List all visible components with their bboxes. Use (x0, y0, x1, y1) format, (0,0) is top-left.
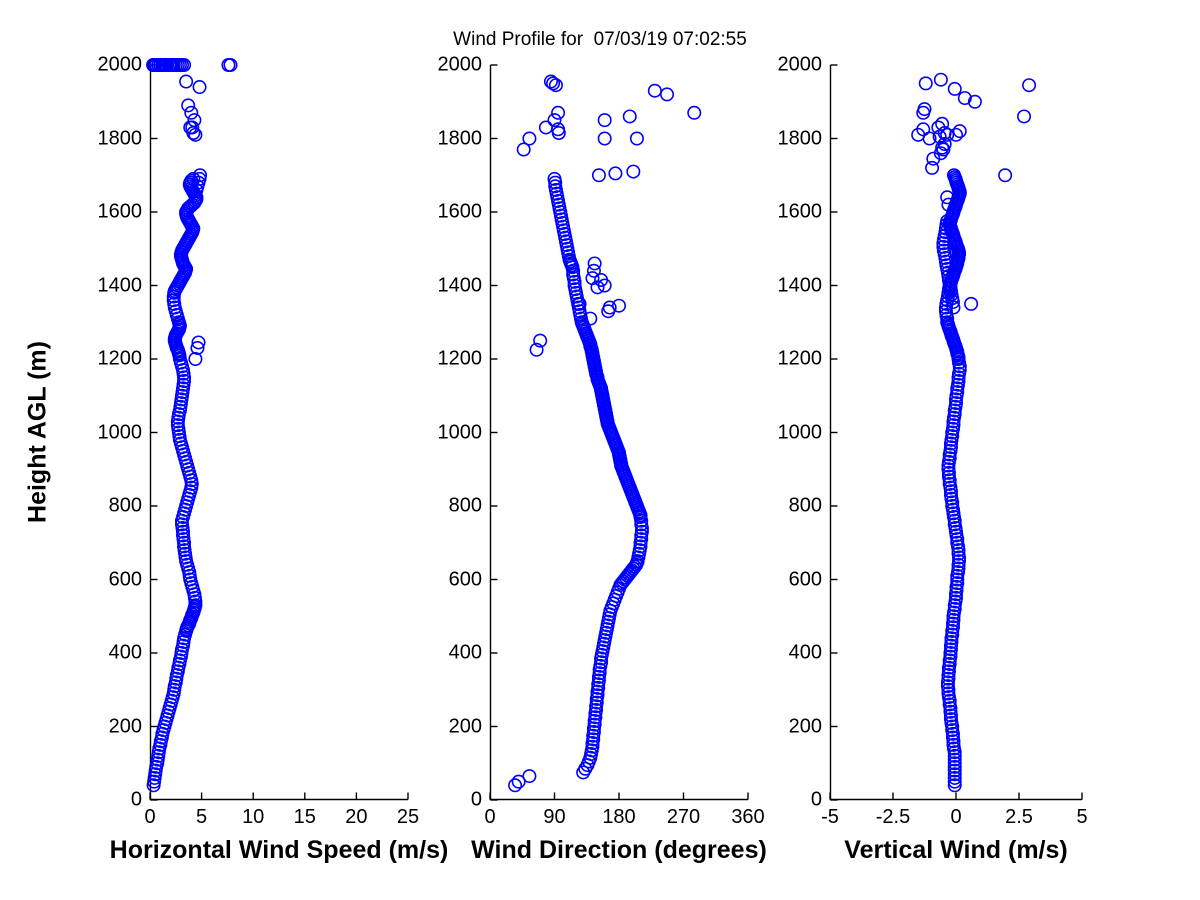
panel-wind-direction: Wind Direction (degrees) 020040060080010… (490, 65, 748, 800)
data-point (613, 300, 625, 312)
page-title: Wind Profile for 07/03/19 07:02:55 (0, 29, 1200, 51)
data-point (593, 169, 605, 181)
data-point (949, 83, 961, 95)
y-tick-label: 0 (131, 789, 142, 812)
y-tick-label: 2000 (98, 54, 143, 77)
y-tick-label: 1800 (98, 127, 143, 150)
x-tick-label: 0 (950, 806, 961, 829)
data-point (517, 143, 529, 155)
y-axis-label: Height AGL (m) (24, 341, 53, 523)
x-axis-label-vertical-wind: Vertical Wind (m/s) (844, 836, 1067, 865)
data-point (598, 114, 610, 126)
data-point (954, 125, 966, 137)
data-point (193, 81, 205, 93)
data-point (627, 165, 639, 177)
data-point (523, 770, 535, 782)
data-point (182, 99, 194, 111)
data-series-markers (509, 75, 701, 791)
y-tick-label: 1600 (98, 201, 143, 224)
data-point (552, 107, 564, 119)
y-tick-label: 1400 (778, 274, 823, 297)
x-tick-label: 2.5 (1005, 806, 1033, 829)
y-tick-label: 400 (449, 642, 482, 665)
y-tick-label: 1600 (438, 201, 483, 224)
scatter-plot-vertical-wind (830, 65, 1082, 800)
x-tick-label: 10 (242, 806, 264, 829)
y-tick-label: 800 (109, 495, 142, 518)
data-point (950, 129, 962, 141)
data-point (540, 121, 552, 133)
y-tick-label: 400 (789, 642, 822, 665)
data-point (661, 88, 673, 100)
x-tick-label: 270 (667, 806, 700, 829)
data-point (649, 85, 661, 97)
data-point (1018, 110, 1030, 122)
y-tick-label: 200 (449, 715, 482, 738)
data-point (598, 132, 610, 144)
y-tick-label: 1200 (778, 348, 823, 371)
x-tick-label: 15 (294, 806, 316, 829)
data-point (999, 169, 1011, 181)
y-tick-label: 1200 (438, 348, 483, 371)
y-tick-label: 600 (789, 568, 822, 591)
data-point (624, 110, 636, 122)
panel-horizontal-wind-speed: Horizontal Wind Speed (m/s) 020040060080… (150, 65, 408, 800)
x-tick-label: 25 (397, 806, 419, 829)
x-tick-label: 5 (196, 806, 207, 829)
y-tick-label: 2000 (778, 54, 823, 77)
data-point (609, 167, 621, 179)
data-point (688, 107, 700, 119)
y-tick-label: 200 (789, 715, 822, 738)
data-point (935, 74, 947, 86)
data-point (1023, 79, 1035, 91)
x-tick-label: 5 (1076, 806, 1087, 829)
y-tick-label: 0 (471, 789, 482, 812)
x-tick-label: 180 (602, 806, 635, 829)
y-tick-label: 1000 (778, 421, 823, 444)
scatter-plot-horizontal-wind-speed (150, 65, 408, 800)
data-point (965, 298, 977, 310)
x-tick-label: 0 (144, 806, 155, 829)
data-point (180, 75, 192, 87)
y-tick-label: 400 (109, 642, 142, 665)
data-point (185, 107, 197, 119)
x-tick-label: 360 (731, 806, 764, 829)
scatter-plot-wind-direction (490, 65, 748, 800)
y-tick-label: 1400 (438, 274, 483, 297)
x-tick-label: 0 (484, 806, 495, 829)
y-tick-label: 600 (109, 568, 142, 591)
data-series-markers (912, 74, 1035, 792)
y-tick-label: 2000 (438, 54, 483, 77)
data-point (631, 132, 643, 144)
y-tick-label: 1800 (438, 127, 483, 150)
data-point (188, 114, 200, 126)
x-tick-label: 20 (345, 806, 367, 829)
y-tick-label: 600 (449, 568, 482, 591)
x-tick-label: -2.5 (876, 806, 910, 829)
y-tick-label: 1200 (98, 348, 143, 371)
x-axis-label-wind-direction: Wind Direction (degrees) (471, 836, 767, 865)
data-point (588, 257, 600, 269)
y-tick-label: 800 (449, 495, 482, 518)
data-point (920, 77, 932, 89)
data-series-markers (147, 59, 237, 792)
y-tick-label: 1800 (778, 127, 823, 150)
panel-vertical-wind: Vertical Wind (m/s) 02004006008001000120… (830, 65, 1082, 800)
data-point (509, 779, 521, 791)
y-tick-label: 1000 (98, 421, 143, 444)
wind-profile-figure: Wind Profile for 07/03/19 07:02:55 Heigh… (0, 0, 1200, 900)
y-tick-label: 1600 (778, 201, 823, 224)
y-tick-label: 1000 (438, 421, 483, 444)
y-tick-label: 200 (109, 715, 142, 738)
x-tick-label: 90 (543, 806, 565, 829)
y-tick-label: 800 (789, 495, 822, 518)
y-tick-label: 1400 (98, 274, 143, 297)
x-tick-label: -5 (821, 806, 839, 829)
x-axis-label-horizontal-wind-speed: Horizontal Wind Speed (m/s) (110, 836, 449, 865)
